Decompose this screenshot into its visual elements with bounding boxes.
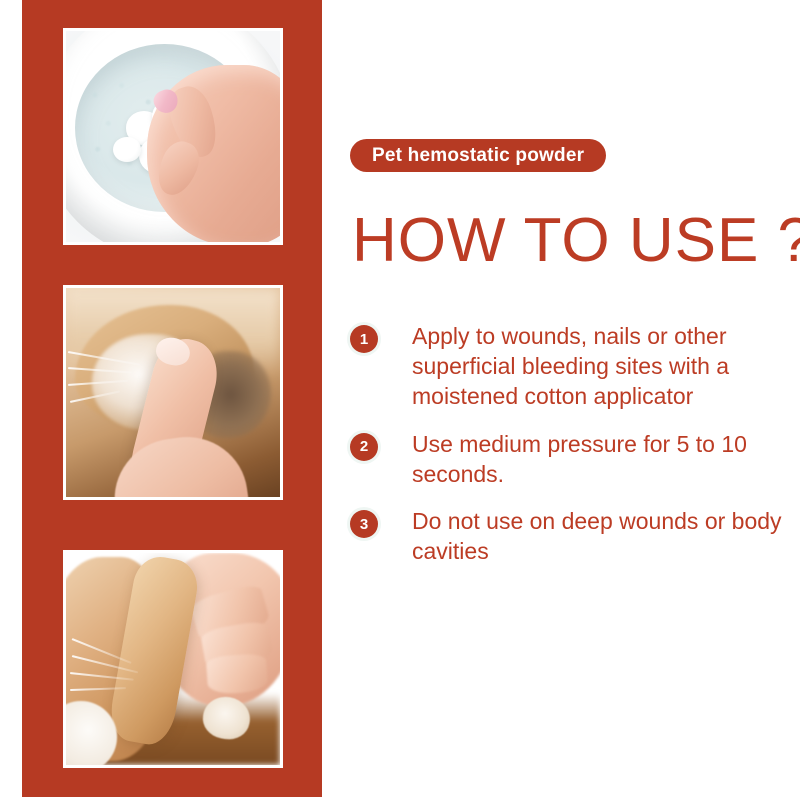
page-title: HOW TO USE ? (352, 208, 800, 273)
list-item: 1 Apply to wounds, nails or other superf… (350, 322, 790, 412)
step-number-badge: 1 (350, 325, 378, 353)
list-item: 2 Use medium pressure for 5 to 10 second… (350, 430, 790, 490)
how-to-use-infographic: Pet hemostatic powder HOW TO USE ? 1 App… (0, 0, 800, 800)
cotton-ball (113, 137, 141, 162)
step-number-badge: 2 (350, 433, 378, 461)
applying-powder-to-paw-photo (63, 285, 283, 500)
list-item: 3 Do not use on deep wounds or body cavi… (350, 507, 790, 567)
product-title-badge: Pet hemostatic powder (350, 139, 606, 172)
holding-cat-paw-photo (63, 550, 283, 768)
step-text: Use medium pressure for 5 to 10 seconds. (412, 430, 790, 490)
step-text: Apply to wounds, nails or other superfic… (412, 322, 790, 412)
instruction-steps-list: 1 Apply to wounds, nails or other superf… (350, 322, 790, 585)
step-number-badge: 3 (350, 510, 378, 538)
photo-panel (22, 0, 322, 797)
content-column: Pet hemostatic powder HOW TO USE ? 1 App… (350, 0, 790, 800)
cotton-balls-in-tub-photo (63, 28, 283, 245)
step-text: Do not use on deep wounds or body caviti… (412, 507, 790, 567)
